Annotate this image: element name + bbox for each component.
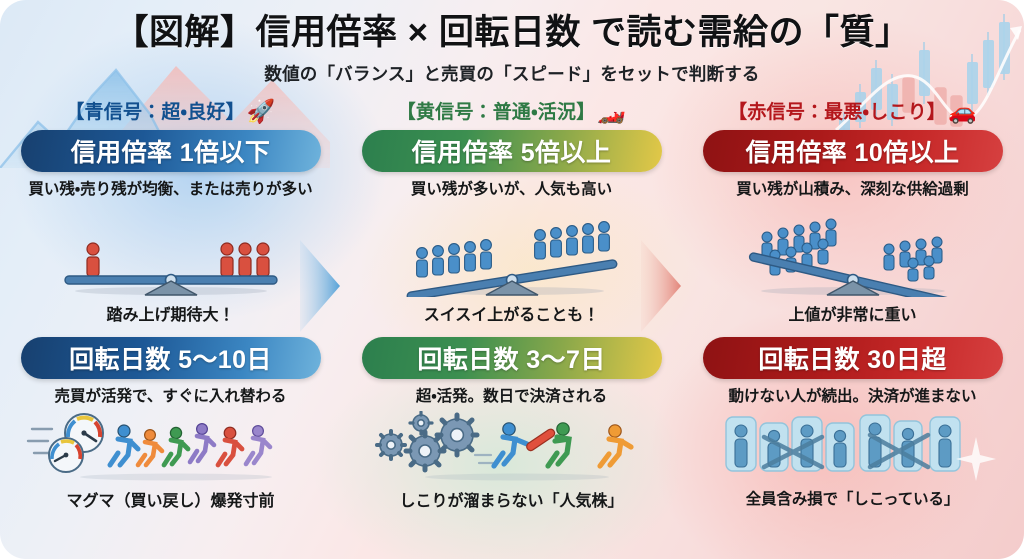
ratio-pill-yellow[interactable]: 信用倍率 5倍以上 (362, 130, 662, 172)
days-caption-yellow: しこりが溜まらない「人気株」 (356, 487, 668, 511)
balance-scale-heavy-left-illustration (703, 203, 1003, 297)
balance-scale-balanced-illustration (21, 203, 321, 297)
gears-relay-runners-illustration (362, 411, 662, 483)
sports-car-icon: 🏎️ (597, 100, 626, 123)
days-pill-yellow[interactable]: 回転日数 3〜7日 (362, 337, 662, 379)
poster-header: 【図解】信用倍率 × 回転日数 で読む需給の「質」 数値の「バランス」と売買の「… (0, 0, 1024, 86)
days-desc-yellow: 超・活発。数日で決済される (362, 387, 662, 407)
column-yellow-signal: 【黄信号：普通・活況】 🏎️ 信用倍率 5倍以上 買い残が多いが、人気も高い (341, 95, 682, 511)
days-desc-red: 動けない人が続出。決済が進まない (703, 387, 1003, 407)
column-red-signal: 【赤信号：最悪・しこり】 🚗 信用倍率 10倍以上 買い残が山積み、深刻な供給過… (682, 95, 1023, 511)
page-subtitle: 数値の「バランス」と売買の「スピード」をセットで判断する (0, 61, 1024, 86)
days-desc-blue: 売買が活発で、すぐに入れ替わる (21, 387, 321, 407)
signal-label-yellow: 【黄信号：普通・活況】 (397, 97, 596, 124)
signal-heading-yellow: 【黄信号：普通・活況】 🏎️ (397, 95, 627, 125)
ratio-desc-yellow: 買い残が多いが、人気も高い (362, 180, 662, 200)
ratio-pill-blue[interactable]: 信用倍率 1倍以下 (21, 130, 321, 172)
ratio-caption-red: 上値が非常に重い (697, 301, 1009, 325)
infographic-poster: 【図解】信用倍率 × 回転日数 で読む需給の「質」 数値の「バランス」と売買の「… (0, 0, 1024, 559)
days-block-red: 回転日数 30日超 動けない人が続出。決済が進まない (697, 332, 1009, 509)
signal-label-blue: 【青信号：超・良好】 (65, 97, 244, 124)
traffic-jam-icon: 🚗 (948, 100, 977, 123)
signal-heading-blue: 【青信号：超・良好】 🚀 (65, 95, 275, 125)
days-pill-blue[interactable]: 回転日数 5〜10日 (21, 337, 321, 379)
rocket-icon: 🚀 (247, 100, 276, 123)
days-caption-red: 全員含み損で「しこっている」 (697, 487, 1009, 509)
days-pill-red[interactable]: 回転日数 30日超 (703, 337, 1003, 379)
signal-heading-red: 【赤信号：最悪・しこり】 🚗 (728, 95, 977, 125)
page-title: 【図解】信用倍率 × 回転日数 で読む需給の「質」 (0, 13, 1024, 52)
days-block-yellow: 回転日数 3〜7日 超・活発。数日で決済される (356, 332, 668, 511)
frozen-people-blocks-illustration (703, 411, 1003, 483)
speed-gauge-runners-illustration (21, 411, 321, 483)
ratio-desc-red: 買い残が山積み、深刻な供給過剰 (703, 180, 1003, 200)
balance-scale-tilted-illustration (362, 203, 662, 297)
ratio-caption-blue: 踏み上げ期待大！ (15, 301, 327, 325)
days-caption-blue: マグマ（買い戻し）爆発寸前 (15, 487, 327, 511)
column-blue-signal: 【青信号：超・良好】 🚀 信用倍率 1倍以下 買い残・売り残が均衡、または売りが… (0, 95, 341, 511)
columns-container: 【青信号：超・良好】 🚀 信用倍率 1倍以下 買い残・売り残が均衡、または売りが… (0, 95, 1024, 511)
ratio-pill-red[interactable]: 信用倍率 10倍以上 (703, 130, 1003, 172)
ratio-caption-yellow: スイスイ上がることも！ (356, 301, 668, 325)
ratio-desc-blue: 買い残・売り残が均衡、または売りが多い (21, 180, 321, 200)
signal-label-red: 【赤信号：最悪・しこり】 (728, 97, 946, 124)
days-block-blue: 回転日数 5〜10日 売買が活発で、すぐに入れ替わる (15, 332, 327, 511)
